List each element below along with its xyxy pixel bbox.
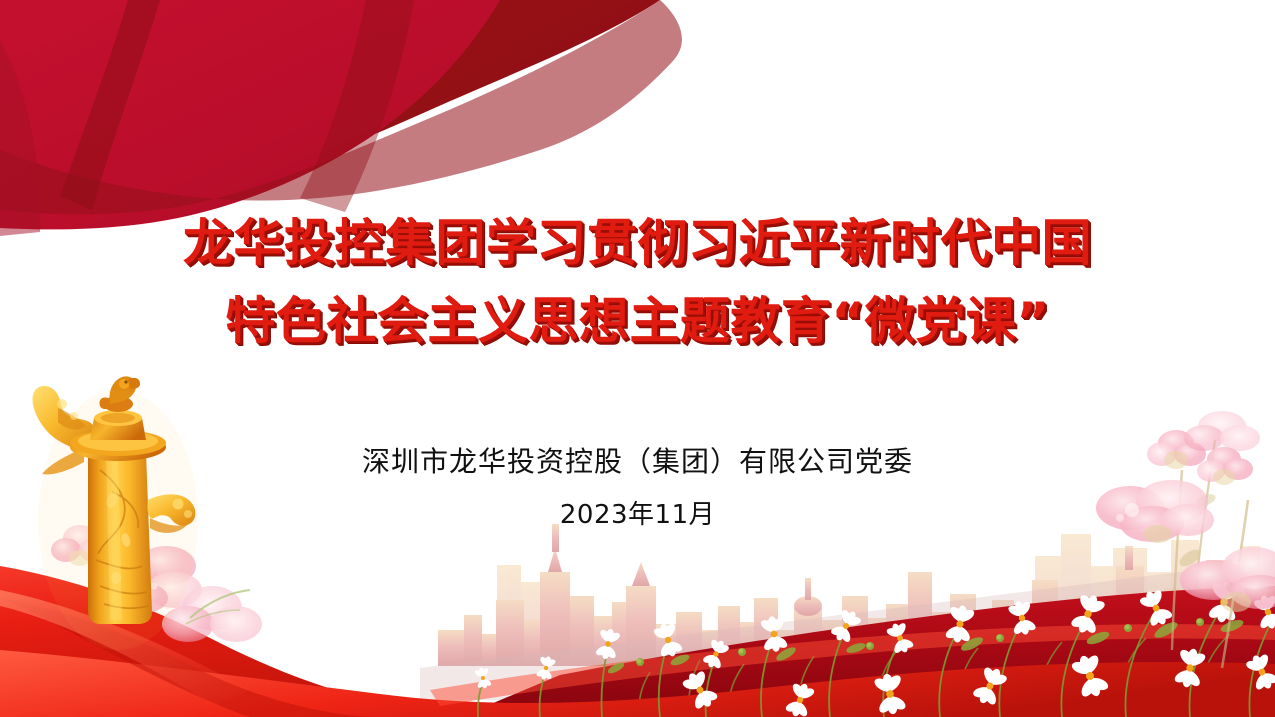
skyline-front <box>438 524 1275 666</box>
skyline-back <box>497 534 1275 651</box>
silk-main-drape <box>0 566 520 717</box>
banner-crease-1 <box>60 0 160 210</box>
slide-title: 龙华投控集团学习贯彻习近平新时代中国 特色社会主义思想主题教育“微党课” <box>0 204 1275 360</box>
banner-crease-2 <box>300 0 414 212</box>
slide-date: 2023年11月 <box>0 494 1275 536</box>
title-line-1: 龙华投控集团学习贯彻习近平新时代中国 <box>0 204 1275 282</box>
pink-blossom-left-cluster <box>51 525 262 642</box>
huabiao-beast <box>99 376 140 412</box>
cosmos-blossom-group <box>473 580 1275 717</box>
skyline-haze <box>420 560 1275 700</box>
banner-fold-dark-right <box>0 0 660 215</box>
presentation-slide: 龙华投控集团学习贯彻习近平新时代中国 特色社会主义思想主题教育“微党课” 深圳市… <box>0 0 1275 717</box>
banner-fold-dark-lower <box>0 0 682 214</box>
silk-fold-ridge <box>0 598 380 717</box>
slide-subtitle: 深圳市龙华投资控股（集团）有限公司党委 2023年11月 <box>0 440 1275 536</box>
grass-tufts <box>639 634 1230 717</box>
silk-edge-lip <box>430 624 1275 706</box>
title-line-2: 特色社会主义思想主题教育“微党课” <box>0 282 1275 360</box>
flower-field-shape <box>460 586 1275 717</box>
silk-highlight <box>0 590 250 706</box>
banner-main-bright <box>0 0 500 229</box>
organization-name: 深圳市龙华投资控股（集团）有限公司党委 <box>0 440 1275 484</box>
silk-lower-sweep <box>0 650 1275 717</box>
